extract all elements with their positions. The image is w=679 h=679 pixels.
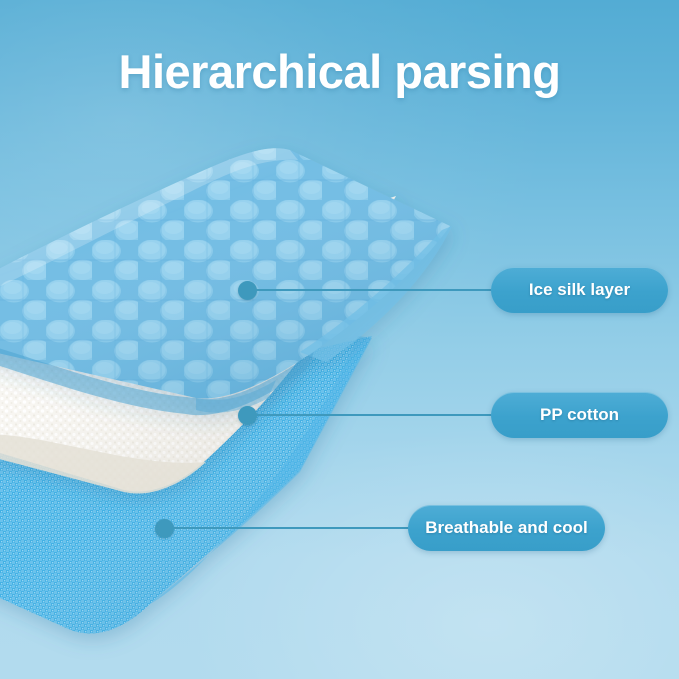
callout-ice-silk-layer[interactable]: Ice silk layer xyxy=(238,267,668,313)
callout-connector-line xyxy=(255,414,505,416)
callout-label-breathable-and-cool[interactable]: Breathable and cool xyxy=(408,505,605,551)
product-infographic: Hierarchical parsing xyxy=(0,0,679,679)
layer-stack-illustration xyxy=(0,0,679,679)
callout-connector-line xyxy=(255,289,505,291)
callout-connector-line xyxy=(172,527,422,529)
callout-label-ice-silk-layer[interactable]: Ice silk layer xyxy=(491,267,668,313)
callout-label-pp-cotton[interactable]: PP cotton xyxy=(491,392,668,438)
callout-breathable-and-cool[interactable]: Breathable and cool xyxy=(155,505,605,551)
callout-pp-cotton[interactable]: PP cotton xyxy=(238,392,668,438)
